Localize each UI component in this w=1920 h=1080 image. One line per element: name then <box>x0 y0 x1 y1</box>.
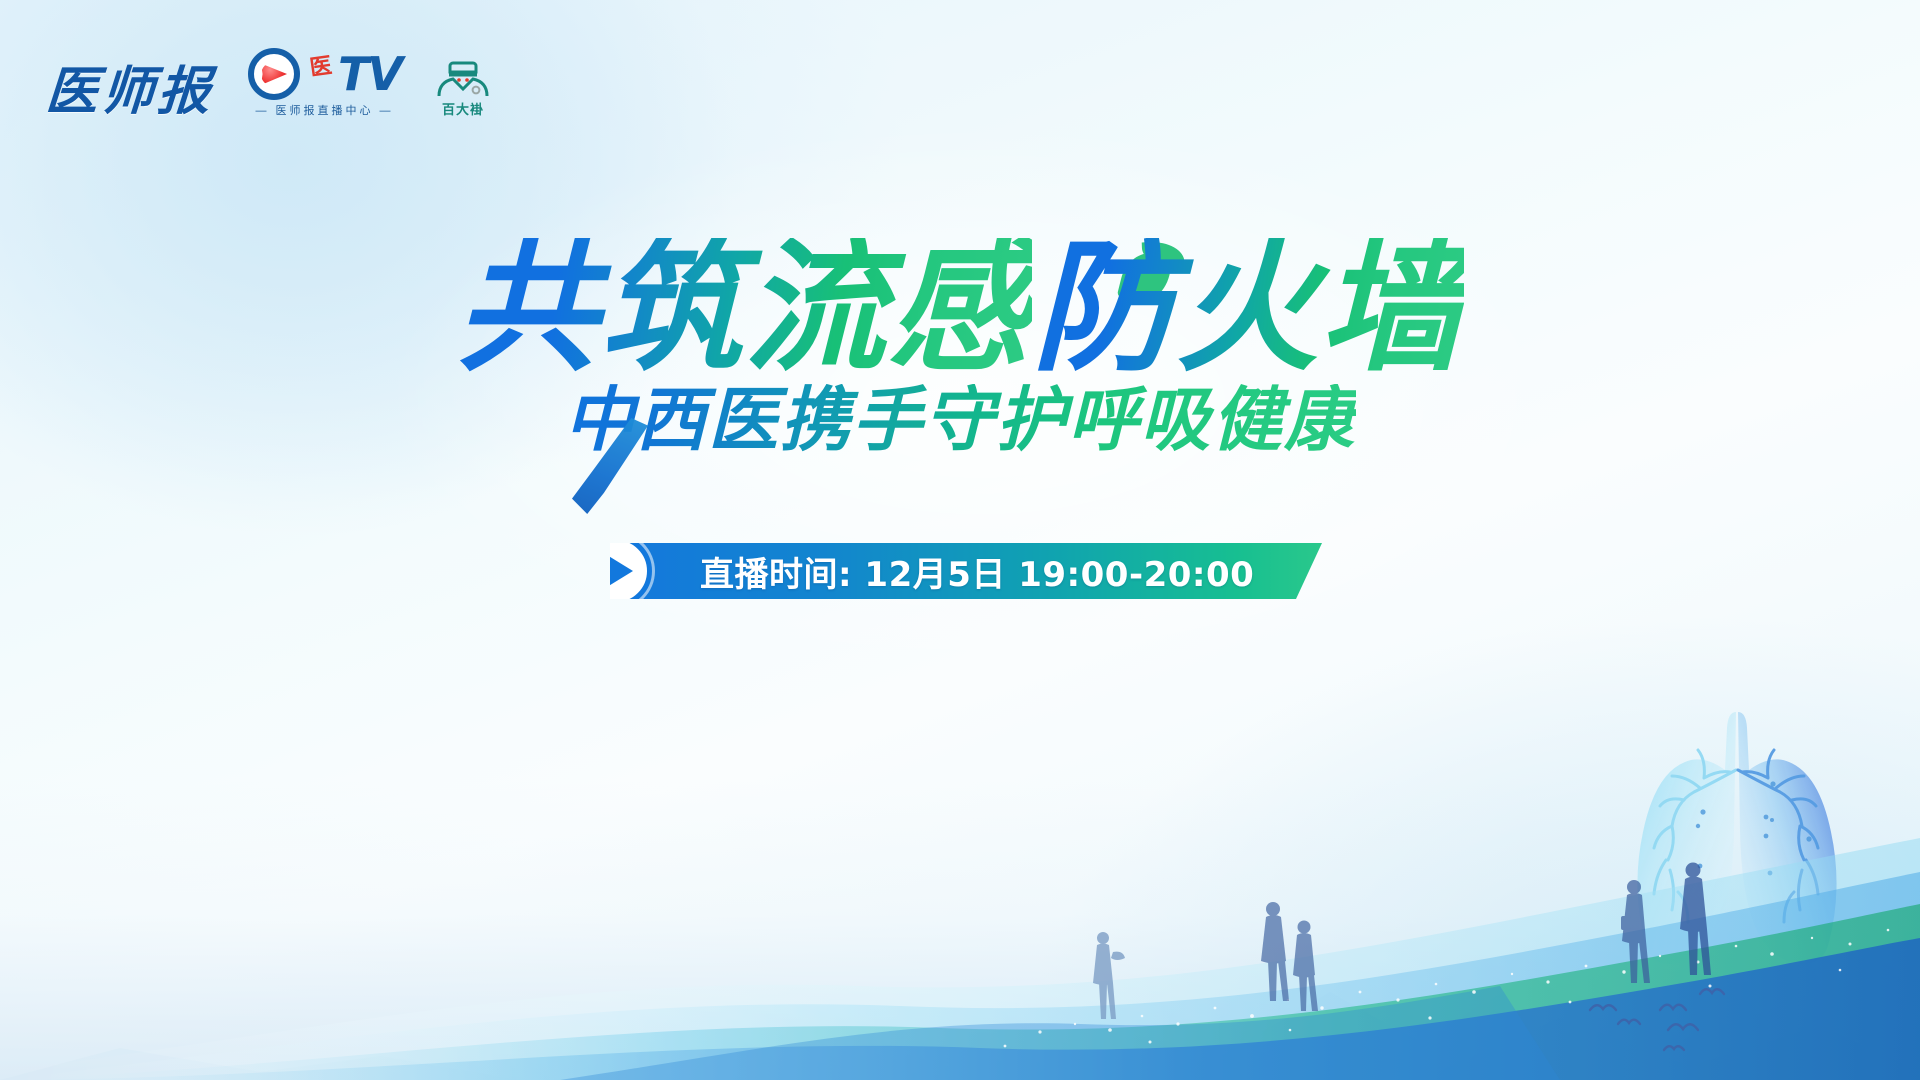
logo-baidagua: 百大褂 <box>435 60 491 118</box>
logo-etv-wordmark: 医 TV <box>304 51 401 97</box>
logo-etv-mark: 医 TV <box>248 48 401 100</box>
doctor-avatar-icon <box>435 60 491 98</box>
live-time-banner: 直播时间: 12月5日 19:00-20:00 <box>610 543 1322 599</box>
red-play-icon <box>261 62 287 86</box>
headline-line-2: 中西医携手守护呼吸健康 <box>0 380 1920 458</box>
logo-yishibao: 医师报 <box>44 66 216 118</box>
headline-block: 共筑流感防火墙 中西医携手守护呼吸健康 <box>0 238 1920 458</box>
play-triangle-icon <box>607 555 633 587</box>
birds-flock <box>1580 962 1810 1052</box>
person-silhouette <box>1293 921 1318 1012</box>
headline-part-2: 防火墙 <box>1032 238 1464 380</box>
headline-part-1: 共筑流感 <box>456 238 1032 380</box>
logo-yishibao-text: 医师报 <box>44 61 216 122</box>
person-silhouette <box>1680 863 1711 976</box>
headline-subtitle: 中西医携手守护呼吸健康 <box>564 384 1356 458</box>
logo-baidagua-text: 百大褂 <box>442 99 484 118</box>
live-time-text: 直播时间: 12月5日 19:00-20:00 <box>700 547 1254 596</box>
person-silhouette <box>1261 902 1289 1001</box>
logo-etv-subtitle: — 医师报直播中心 — <box>255 102 393 118</box>
logo-bar: 医师报 医 TV — 医师报直播中心 — <box>46 48 491 118</box>
logo-etv: 医 TV — 医师报直播中心 — <box>248 48 401 118</box>
headline-line-1: 共筑流感防火墙 <box>0 238 1920 380</box>
person-silhouette <box>1093 932 1125 1019</box>
logo-etv-yi-char: 医 <box>309 56 332 81</box>
poster-canvas: 医师报 医 TV — 医师报直播中心 — <box>0 0 1920 1080</box>
play-disc-icon <box>248 48 300 100</box>
